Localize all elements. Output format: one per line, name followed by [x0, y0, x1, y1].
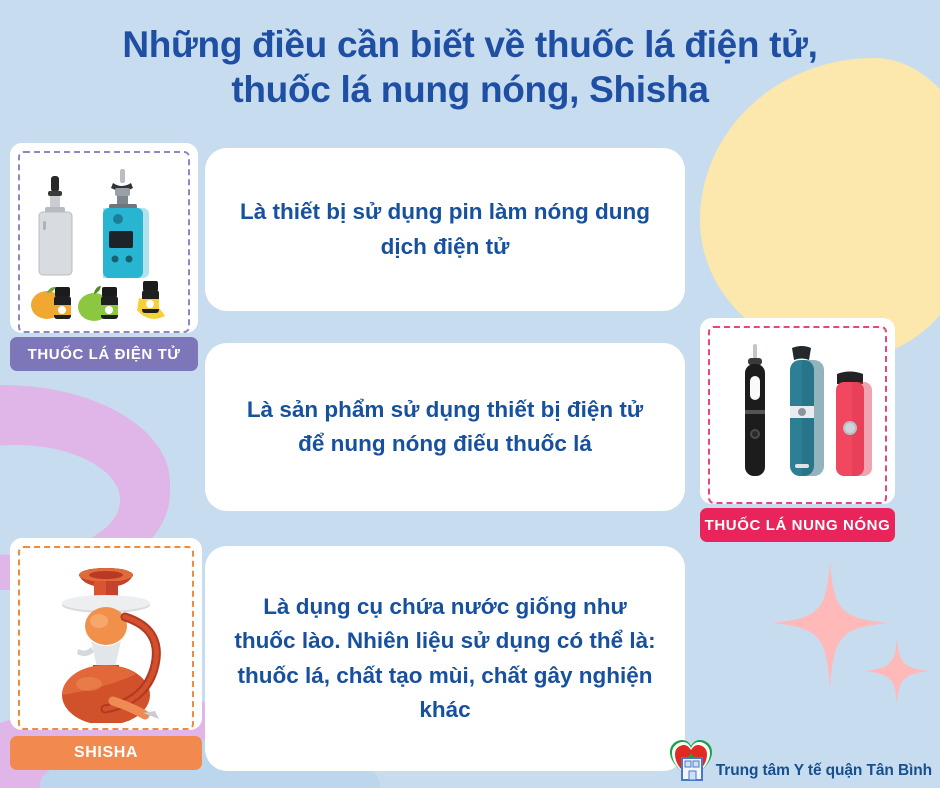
shisha-hookah-image [21, 553, 191, 723]
picture-card-shisha [10, 538, 202, 730]
description-card-heated-tobacco: Là sản phẩm sử dụng thiết bị điện tử để … [205, 343, 685, 511]
description-text-heated-tobacco: Là sản phẩm sử dụng thiết bị điện tử để … [231, 393, 659, 461]
electronic-cigarette-devices-image [21, 159, 187, 325]
page-title-line-2: thuốc lá nung nóng, Shisha [40, 67, 900, 112]
picture-frame-heated-tobacco [708, 326, 887, 504]
page-title-line-1: Những điều cần biết về thuốc lá điện tử, [40, 22, 900, 67]
description-text-shisha: Là dụng cụ chứa nước giống như thuốc lào… [231, 590, 659, 727]
footer-organization-name: Trung tâm Y tế quận Tân Bình [716, 762, 932, 782]
picture-card-heated-tobacco [700, 318, 895, 504]
description-text-electronic-cigarette: Là thiết bị sử dụng pin làm nóng dung dị… [231, 195, 659, 263]
description-card-electronic-cigarette: Là thiết bị sử dụng pin làm nóng dung dị… [205, 148, 685, 311]
page-title: Những điều cần biết về thuốc lá điện tử,… [0, 22, 940, 112]
heart-hospital-logo-icon [668, 738, 714, 782]
picture-frame-shisha [18, 546, 194, 730]
footer-logo: Trung tâm Y tế quận Tân Bình [668, 738, 932, 782]
badge-electronic-cigarette: THUỐC LÁ ĐIỆN TỬ [10, 337, 198, 371]
heated-tobacco-devices-image [712, 334, 884, 496]
sparkle-small-icon [862, 635, 932, 707]
badge-heated-tobacco: THUỐC LÁ NUNG NÓNG [700, 508, 895, 542]
infographic-canvas: Những điều cần biết về thuốc lá điện tử,… [0, 0, 940, 788]
picture-frame-electronic-cigarette [18, 151, 190, 333]
description-card-shisha: Là dụng cụ chứa nước giống như thuốc lào… [205, 546, 685, 771]
picture-card-electronic-cigarette [10, 143, 198, 333]
badge-shisha: SHISHA [10, 736, 202, 770]
